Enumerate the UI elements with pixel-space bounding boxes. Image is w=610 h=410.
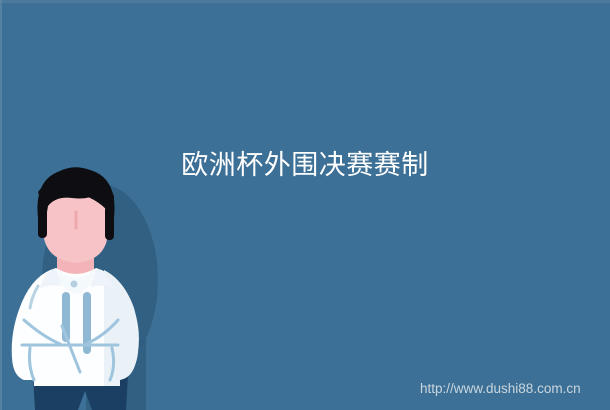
top-edge-highlight — [0, 0, 610, 3]
hoodie — [12, 268, 139, 386]
page-title: 欧洲杯外围决赛赛制 — [0, 150, 610, 182]
watermark-url: http://www.dushi88.com.cn — [420, 381, 581, 397]
person-illustration — [0, 160, 170, 410]
image-canvas: 欧洲杯外围决赛赛制 http://www.dushi88.com.cn — [0, 0, 610, 410]
